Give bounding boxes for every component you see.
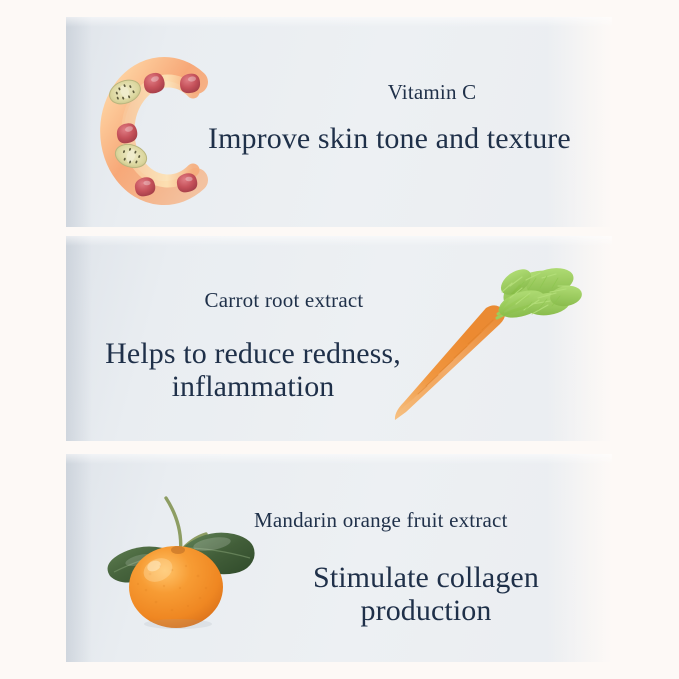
panel-2-headline: Helps to reduce redness, inflammation <box>88 337 418 403</box>
panel-1-text: Vitamin C Improve skin tone and texture <box>208 80 608 155</box>
mandarin-orange-graphic <box>88 478 268 638</box>
panel-3-headline: Stimulate collagen production <box>268 561 584 627</box>
ingredient-benefits-board: Vitamin C Improve skin tone and texture <box>0 0 679 679</box>
panel-2-eyebrow: Carrot root extract <box>150 288 418 313</box>
vitamin-c-letter-graphic <box>92 52 220 210</box>
panel-3-eyebrow: Mandarin orange fruit extract <box>254 508 584 533</box>
panel-1-eyebrow: Vitamin C <box>256 80 608 105</box>
panel-3-text: Mandarin orange fruit extract Stimulate … <box>254 508 584 627</box>
panel-2-text: Carrot root extract Helps to reduce redn… <box>88 288 418 403</box>
panel-1-headline: Improve skin tone and texture <box>208 122 608 155</box>
